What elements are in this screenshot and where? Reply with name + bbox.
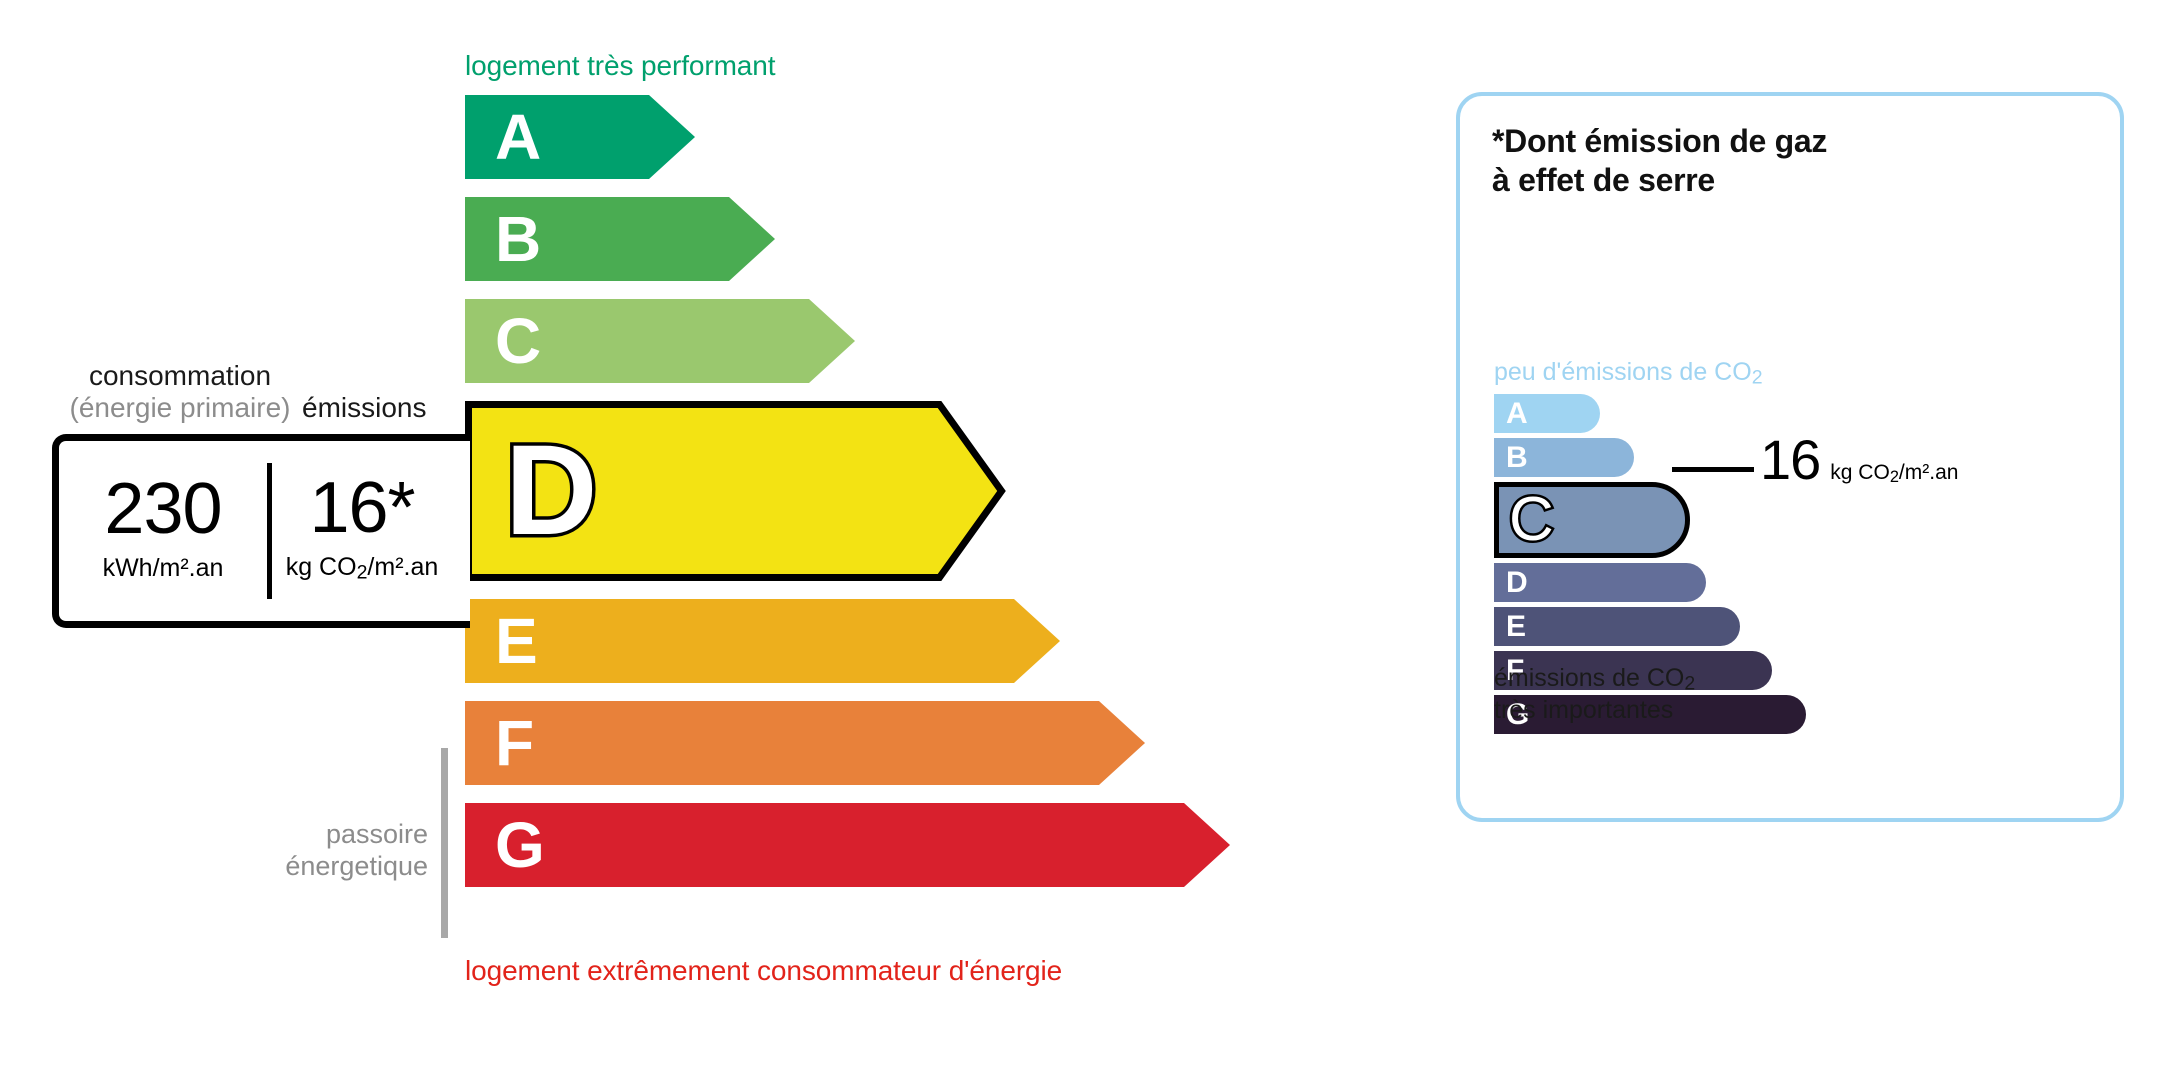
co2-bar-letter-a: A	[1506, 399, 1528, 429]
consumption-label-main: consommation	[89, 360, 271, 391]
passoire-line-1: passoire	[326, 819, 428, 849]
energy-band-letter-e: E	[495, 609, 538, 673]
emission-value-cell: 16* kg CO2/m².an	[272, 472, 452, 590]
energy-band-g: G	[465, 803, 1230, 887]
co2-bar-a: A	[1494, 394, 1600, 433]
emission-value: 16*	[272, 472, 452, 544]
emission-unit-suffix: /m².an	[367, 553, 438, 581]
co2-value-readout: 16 kg CO2/m².an	[1760, 432, 1958, 488]
co2-title-line-1: *Dont émission de gaz	[1492, 123, 1827, 159]
co2-bottom-caption: émissions de CO2 très importantes	[1494, 664, 1695, 725]
energy-band-b: B	[465, 197, 775, 281]
rating-value-box: 230 kWh/m².an 16* kg CO2/m².an	[52, 434, 470, 628]
co2-subscript-2: 2	[1890, 468, 1899, 486]
energy-band-letter-g: G	[495, 813, 545, 877]
co2-bottom-caption-line-1: émissions de CO	[1494, 664, 1684, 692]
energy-band-letter-f: F	[495, 711, 534, 775]
energy-band-letter-d: D	[505, 427, 597, 555]
co2-top-caption-text: peu d'émissions de CO	[1494, 358, 1752, 386]
emissions-label: émissions	[302, 392, 426, 424]
energy-band-shape-f	[465, 701, 1145, 785]
passoire-energetique-marker	[441, 748, 448, 938]
energy-performance-chart: logement très performant ABCDEFG passoir…	[0, 0, 1400, 1079]
emission-unit-prefix: kg CO	[286, 553, 357, 581]
co2-emissions-panel: *Dont émission de gaz à effet de serre p…	[1456, 92, 2124, 822]
co2-bar-letter-e: E	[1506, 612, 1526, 642]
co2-subscript-2: 2	[357, 562, 368, 584]
co2-title-line-2: à effet de serre	[1492, 162, 1715, 198]
co2-bar-letter-d: D	[1506, 568, 1528, 598]
energy-band-letter-c: C	[495, 309, 541, 373]
co2-leader-line	[1672, 467, 1754, 472]
co2-unit: kg CO2/m².an	[1830, 461, 1958, 487]
co2-bar-d: D	[1494, 563, 1706, 602]
emission-unit: kg CO2/m².an	[272, 554, 452, 584]
co2-top-caption: peu d'émissions de CO2	[1494, 358, 1763, 390]
energy-band-d-current: D	[465, 401, 1005, 581]
energy-band-letter-a: A	[495, 105, 541, 169]
energy-band-e: E	[465, 599, 1060, 683]
consumption-value: 230	[59, 473, 267, 545]
co2-subscript-2: 2	[1684, 673, 1695, 695]
passoire-line-2: énergetique	[285, 851, 428, 881]
co2-value: 16	[1760, 432, 1820, 488]
co2-bottom-caption-line-2: très importantes	[1494, 696, 1673, 724]
passoire-energetique-label: passoire énergetique	[230, 818, 428, 883]
energy-band-c: C	[465, 299, 855, 383]
energy-bottom-caption: logement extrêmement consommateur d'éner…	[465, 955, 1062, 987]
co2-bar-c-current: C	[1494, 482, 1690, 558]
energy-band-shape-g	[465, 803, 1230, 887]
co2-bar-e: E	[1494, 607, 1740, 646]
energy-band-shape-e	[465, 599, 1060, 683]
co2-panel-title: *Dont émission de gaz à effet de serre	[1492, 122, 1827, 200]
energy-band-letter-b: B	[495, 207, 541, 271]
co2-bar-letter-c: C	[1509, 489, 1554, 551]
energy-top-caption: logement très performant	[465, 50, 775, 82]
energy-band-f: F	[465, 701, 1145, 785]
co2-unit-prefix: kg CO	[1830, 461, 1890, 484]
energy-band-a: A	[465, 95, 695, 179]
co2-bar-b: B	[1494, 438, 1634, 477]
consumption-value-cell: 230 kWh/m².an	[59, 473, 267, 589]
consumption-label-sub: (énergie primaire)	[70, 392, 291, 423]
co2-subscript-2: 2	[1752, 367, 1763, 389]
consumption-unit: kWh/m².an	[59, 555, 267, 583]
consumption-label: consommation (énergie primaire)	[65, 360, 295, 425]
co2-unit-suffix: /m².an	[1899, 461, 1959, 484]
co2-bar-letter-b: B	[1506, 443, 1528, 473]
